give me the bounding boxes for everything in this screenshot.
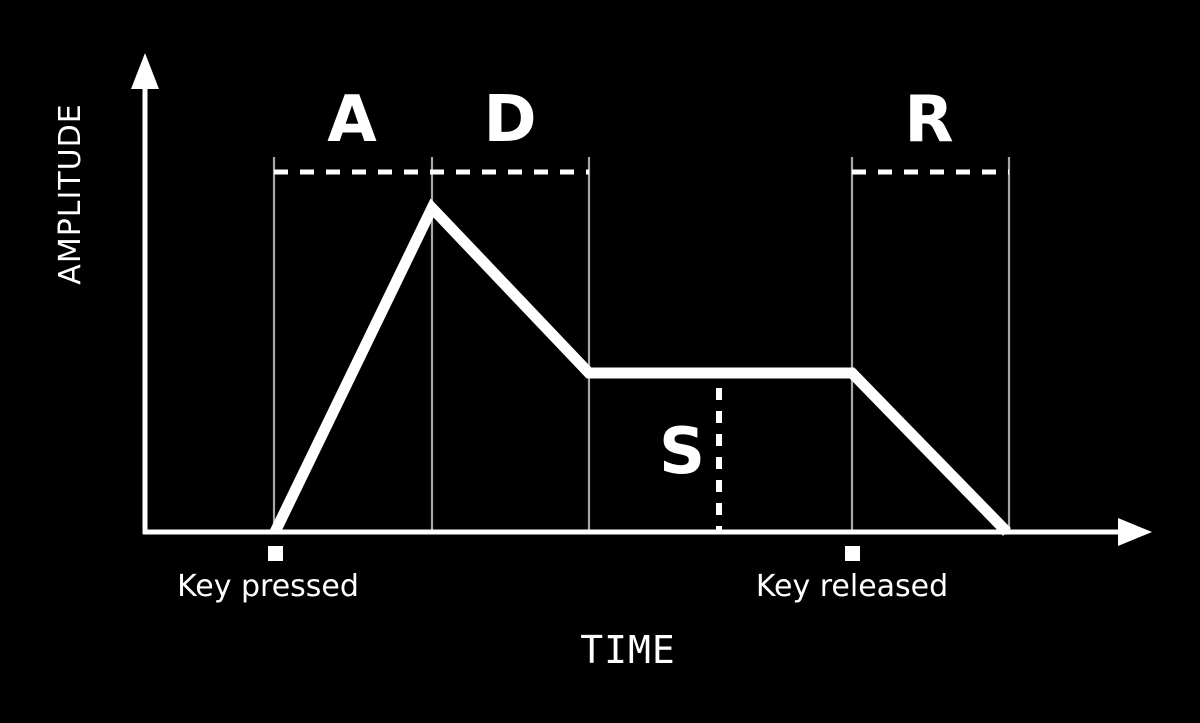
key-released-marker-icon	[845, 546, 860, 561]
phase-label-sustain: S	[659, 420, 705, 484]
y-axis-title: AMPLITUDE	[56, 103, 86, 284]
key-pressed-marker-icon	[268, 546, 283, 561]
x-axis-arrow-icon	[1118, 518, 1152, 546]
x-axis-title: TIME	[580, 631, 676, 669]
key-released-label: Key released	[756, 572, 948, 602]
adsr-diagram-canvas	[0, 0, 1200, 723]
y-axis	[131, 53, 159, 534]
phase-label-decay: D	[483, 88, 536, 152]
key-pressed-label: Key pressed	[177, 572, 359, 602]
adsr-envelope-figure: A D S R AMPLITUDE TIME Key pressed Key r…	[0, 0, 1200, 723]
adsr-envelope-curve	[275, 208, 1007, 532]
phase-label-attack: A	[327, 88, 377, 152]
phase-label-release: R	[904, 88, 953, 152]
phase-guide-lines	[274, 157, 1009, 532]
y-axis-arrow-icon	[131, 53, 159, 89]
